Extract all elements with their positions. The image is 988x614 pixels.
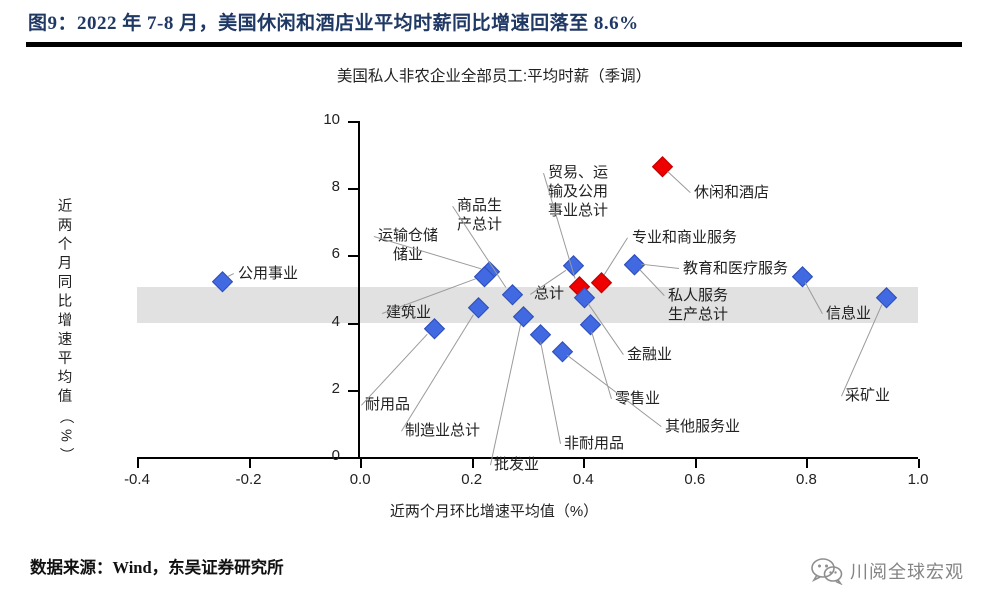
point-label-line: 教育和医疗服务 — [683, 259, 788, 278]
x-tick — [472, 459, 474, 468]
y-tick — [348, 121, 358, 123]
point-label-line: 贸易、运 — [548, 163, 608, 182]
point-label: 采矿业 — [845, 386, 890, 405]
leader-line — [490, 324, 522, 466]
y-axis-title-char: 个 — [52, 236, 78, 255]
point-label: 教育和医疗服务 — [683, 259, 788, 278]
x-tick-label: 0.6 — [665, 471, 725, 488]
figure-footer: 数据来源：Wind，东吴证券研究所 川阅全球宏观 — [0, 536, 988, 614]
point-label-line: 制造业总计 — [405, 421, 480, 440]
point-label: 零售业 — [615, 389, 660, 408]
y-axis-title-char: 比 — [52, 293, 78, 312]
point-label: 专业和商业服务 — [632, 228, 737, 247]
x-tick — [918, 459, 920, 468]
point-label: 批发业 — [494, 455, 539, 474]
y-tick — [348, 390, 358, 392]
point-label-line: 其他服务业 — [665, 417, 740, 436]
x-tick-label: -0.4 — [107, 471, 167, 488]
y-tick — [348, 457, 358, 459]
y-tick-label: 2 — [300, 380, 340, 397]
point-label-line: 输及公用 — [548, 182, 608, 201]
point-label-line: 商品生 — [457, 196, 502, 215]
point-label-line: 金融业 — [627, 345, 672, 364]
leader-line — [641, 263, 679, 269]
chart-container: 美国私人非农企业全部员工:平均时薪（季调） 0246810 -0.4-0.20.… — [0, 48, 988, 536]
y-axis-line — [358, 121, 360, 458]
figure-title: 图9：2022 年 7-8 月，美国休闲和酒店业平均时薪同比增速回落至 8.6% — [28, 8, 639, 35]
point-label: 其他服务业 — [665, 417, 740, 436]
point-label-line: 采矿业 — [845, 386, 890, 405]
x-tick-label: 0.4 — [553, 471, 613, 488]
point-label: 休闲和酒店 — [694, 183, 769, 202]
y-axis-title-char: ） — [56, 442, 75, 468]
figure-header: 图9：2022 年 7-8 月，美国休闲和酒店业平均时薪同比增速回落至 8.6% — [0, 0, 988, 48]
y-tick-label: 4 — [300, 313, 340, 330]
point-label-line: 耐用品 — [365, 395, 410, 414]
point-label-line: 公用事业 — [238, 264, 298, 283]
watermark-text: 川阅全球宏观 — [850, 558, 964, 584]
point-label: 公用事业 — [238, 264, 298, 283]
point-label: 建筑业 — [386, 303, 431, 322]
y-tick — [348, 255, 358, 257]
watermark: 川阅全球宏观 — [811, 554, 964, 588]
y-axis-title-char: 月 — [52, 255, 78, 274]
point-label-line: 专业和商业服务 — [632, 228, 737, 247]
point-label-line: 运输仓储 — [378, 226, 438, 245]
point-label-line: 信息业 — [826, 304, 871, 323]
data-point[interactable] — [792, 266, 813, 287]
y-tick-label: 0 — [300, 447, 340, 464]
y-axis-title: 近两个月同比增速平均值（%） — [52, 198, 78, 464]
x-tick — [583, 459, 585, 468]
x-tick — [137, 459, 139, 468]
point-label: 商品生产总计 — [457, 196, 502, 234]
x-tick — [806, 459, 808, 468]
y-axis-title-char: 近 — [52, 198, 78, 217]
point-label-line: 零售业 — [615, 389, 660, 408]
x-tick — [695, 459, 697, 468]
y-tick — [348, 188, 358, 190]
point-label-line: 生产总计 — [668, 305, 728, 324]
point-label-line: 非耐用品 — [564, 434, 624, 453]
y-axis-title-char: 增 — [52, 312, 78, 331]
y-tick — [348, 323, 358, 325]
x-axis-title: 近两个月环比增速平均值（%） — [294, 500, 694, 521]
point-label: 贸易、运输及公用事业总计 — [548, 163, 608, 220]
point-label-line: 休闲和酒店 — [694, 183, 769, 202]
y-tick-label: 10 — [300, 111, 340, 128]
point-label-line: 建筑业 — [386, 303, 431, 322]
x-tick — [360, 459, 362, 468]
x-tick-label: -0.2 — [219, 471, 279, 488]
x-tick-label: 1.0 — [888, 471, 948, 488]
point-label: 运输仓储储业 — [378, 226, 438, 264]
y-tick-label: 6 — [300, 245, 340, 262]
point-label: 耐用品 — [365, 395, 410, 414]
x-tick-label: 0.8 — [776, 471, 836, 488]
leader-line — [227, 273, 234, 277]
leader-line — [603, 237, 628, 275]
point-label: 金融业 — [627, 345, 672, 364]
x-tick-label: 0.0 — [330, 471, 390, 488]
data-source-text: 数据来源：Wind，东吴证券研究所 — [30, 554, 284, 578]
point-label-line: 私人服务 — [668, 286, 728, 305]
y-axis-title-char: 均 — [52, 369, 78, 388]
x-tick-label: 0.2 — [442, 471, 502, 488]
y-axis-title-char: 速 — [52, 331, 78, 350]
leader-line — [667, 171, 691, 193]
scatter-plot: 0246810 -0.4-0.20.00.20.40.60.81.0 公用事业运… — [0, 48, 988, 536]
point-label: 私人服务生产总计 — [668, 286, 728, 324]
x-tick — [249, 459, 251, 468]
y-axis-title-char: 同 — [52, 274, 78, 293]
header-divider — [26, 42, 962, 47]
y-tick-label: 8 — [300, 178, 340, 195]
y-axis-title-char: 平 — [52, 350, 78, 369]
point-label: 非耐用品 — [564, 434, 624, 453]
point-label-line: 批发业 — [494, 455, 539, 474]
point-label: 制造业总计 — [405, 421, 480, 440]
data-point[interactable] — [552, 341, 573, 362]
leader-line — [591, 332, 612, 399]
y-axis-title-char: 两 — [52, 217, 78, 236]
point-label: 信息业 — [826, 304, 871, 323]
wechat-icon — [811, 557, 843, 585]
